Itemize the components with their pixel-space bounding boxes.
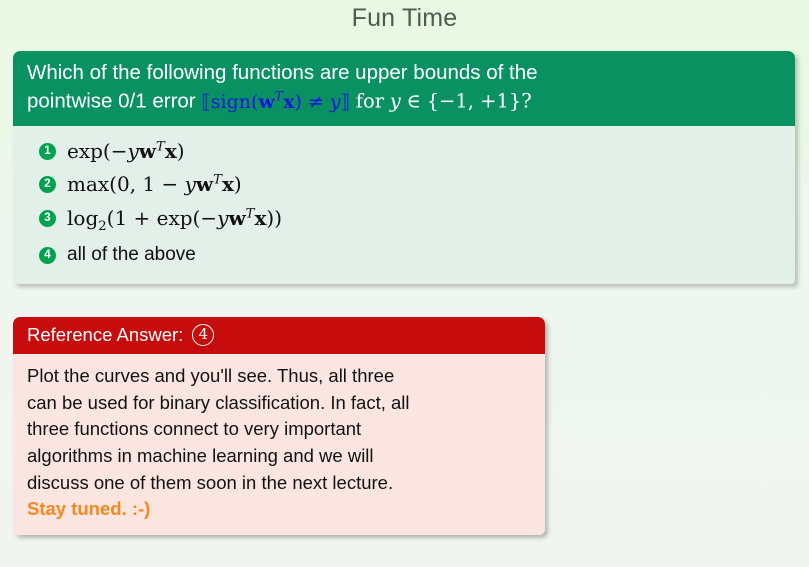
reference-answer-badge: 4	[192, 324, 214, 346]
choice-2-head: max(0, 1 −	[67, 172, 185, 196]
choice-3-mid: (1 + exp(−	[107, 206, 217, 230]
choice-1-tail: )	[177, 139, 185, 163]
answer-body-line-1: Plot the curves and you'll see. Thus, al…	[27, 365, 394, 386]
answer-body-line-3: three functions connect to very importan…	[27, 418, 361, 439]
choice-item-2[interactable]: 2 max(0, 1 − ywTx)	[13, 168, 795, 201]
answer-highlight-text: Stay tuned. :-)	[27, 498, 150, 519]
choice-2-tail: )	[234, 172, 242, 196]
choice-badge-2: 2	[39, 176, 56, 193]
choice-3-x: x	[254, 206, 266, 230]
choice-2-w: w	[196, 172, 213, 196]
choice-3-head: log	[67, 206, 98, 230]
slide-root: Fun Time Which of the following function…	[0, 0, 809, 567]
reference-answer-body: Plot the curves and you'll see. Thus, al…	[13, 354, 545, 535]
choice-2-transpose: T	[213, 173, 222, 188]
choice-item-1[interactable]: 1 exp(−ywTx)	[13, 135, 795, 168]
bracket-close: ⟧	[341, 91, 350, 113]
label-set: {−1, +1}?	[427, 90, 532, 113]
choice-3-subscript: 2	[98, 219, 106, 234]
choice-2-x: x	[222, 172, 234, 196]
reference-answer-header: Reference Answer: 4	[13, 317, 545, 354]
sign-function: sign(	[211, 91, 259, 113]
bracket-open: ⟦	[201, 91, 210, 113]
page-title: Fun Time	[0, 4, 809, 33]
element-of-icon: ∈	[406, 90, 420, 113]
choice-badge-1: 1	[39, 143, 56, 160]
vector-w: w	[258, 91, 274, 113]
choice-item-3[interactable]: 3 log2(1 + exp(−ywTx))	[13, 202, 795, 240]
not-equal-icon: ≠	[308, 91, 324, 113]
choice-badge-3: 3	[39, 210, 56, 227]
choice-1-x: x	[165, 139, 177, 163]
reference-answer-label: Reference Answer:	[27, 324, 183, 346]
answer-body-line-2: can be used for binary classification. I…	[27, 392, 410, 413]
question-line-2-prefix: pointwise 0/1 error	[27, 90, 196, 113]
answer-body-line-5: discuss one of them soon in the next lec…	[27, 472, 393, 493]
question-line-1: Which of the following functions are upp…	[27, 61, 538, 84]
choice-label-2: max(0, 1 − ywTx)	[67, 170, 242, 198]
question-header: Which of the following functions are upp…	[13, 51, 795, 126]
label-y: y	[330, 91, 341, 113]
choice-3-y: y	[217, 206, 228, 230]
vector-x: x	[283, 91, 294, 113]
choice-list: 1 exp(−ywTx) 2 max(0, 1 − ywTx) 3 log2(1…	[13, 126, 795, 284]
choice-1-transpose: T	[156, 139, 165, 154]
close-paren: )	[294, 91, 301, 113]
choice-item-4[interactable]: 4 all of the above	[13, 239, 795, 273]
choice-1-y: y	[127, 139, 138, 163]
transpose-superscript: T	[275, 88, 283, 103]
for-word: for	[356, 90, 384, 113]
choice-3-w: w	[228, 206, 245, 230]
choice-3-tail: ))	[266, 206, 282, 230]
iverson-bracket-expression: ⟦sign(wTx) ≠ y⟧	[201, 91, 350, 113]
answer-body-line-4: algorithms in machine learning and we wi…	[27, 445, 374, 466]
question-block: Which of the following functions are upp…	[13, 51, 795, 284]
choice-1-head: exp(−	[67, 139, 127, 163]
choice-2-y: y	[185, 172, 196, 196]
reference-answer-block: Reference Answer: 4 Plot the curves and …	[13, 317, 545, 535]
y-variable: y	[390, 90, 401, 113]
choice-label-4: all of the above	[67, 241, 196, 270]
choice-label-3: log2(1 + exp(−ywTx))	[67, 204, 282, 237]
choice-1-w: w	[139, 139, 156, 163]
choice-label-1: exp(−ywTx)	[67, 137, 185, 165]
choice-badge-4: 4	[39, 247, 56, 264]
